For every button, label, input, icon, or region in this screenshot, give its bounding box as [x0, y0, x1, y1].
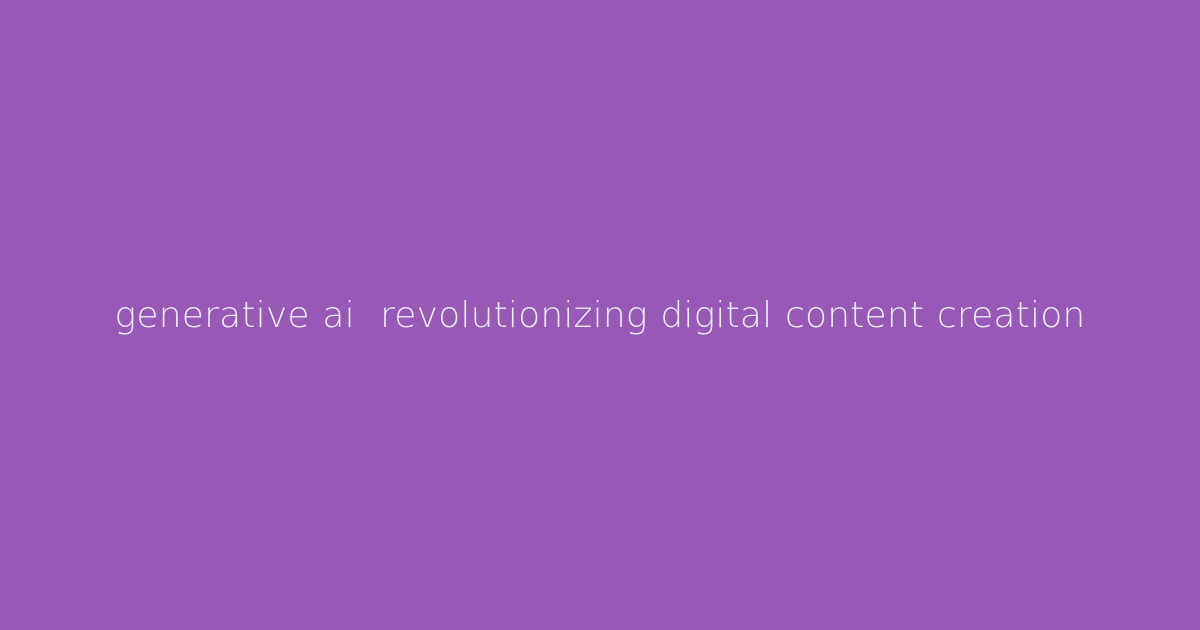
headline-container: generative ai revolutionizing digital co…	[0, 293, 1200, 338]
social-share-card: generative ai revolutionizing digital co…	[0, 0, 1200, 630]
card-headline: generative ai revolutionizing digital co…	[115, 295, 1086, 336]
